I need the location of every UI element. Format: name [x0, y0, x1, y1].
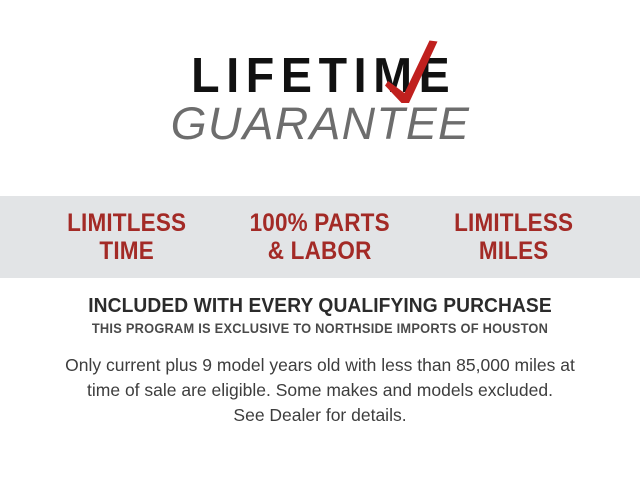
fineprint-line: time of sale are eligible. Some makes an… — [0, 378, 640, 403]
copy-block: INCLUDED WITH EVERY QUALIFYING PURCHASE … — [0, 294, 640, 428]
subline-text: THIS PROGRAM IS EXCLUSIVE TO NORTHSIDE I… — [16, 321, 624, 337]
logo-guarantee-text: GUARANTEE — [170, 101, 470, 147]
benefit-line-1: 100% PARTS — [233, 209, 407, 238]
benefit-column-limitless-miles: LIMITLESS MILES — [426, 209, 600, 266]
benefit-line-1: LIMITLESS — [426, 209, 600, 238]
benefit-line-2: TIME — [40, 237, 214, 266]
benefits-band: LIMITLESS TIME 100% PARTS & LABOR LIMITL… — [0, 196, 640, 278]
benefit-line-1: LIMITLESS — [40, 209, 214, 238]
headline-text: INCLUDED WITH EVERY QUALIFYING PURCHASE — [13, 294, 627, 318]
benefit-column-parts-labor: 100% PARTS & LABOR — [233, 209, 407, 266]
logo-lifetime-text: LIFETIME — [182, 52, 458, 100]
benefit-column-limitless-time: LIMITLESS TIME — [40, 209, 214, 266]
logo-block: LIFETIME GUARANTEE — [0, 52, 640, 147]
fineprint-block: Only current plus 9 model years old with… — [0, 353, 640, 428]
benefit-line-2: MILES — [426, 237, 600, 266]
fineprint-line: Only current plus 9 model years old with… — [0, 353, 640, 378]
fineprint-line: See Dealer for details. — [0, 403, 640, 428]
benefit-line-2: & LABOR — [233, 237, 407, 266]
logo-wordmark: LIFETIME GUARANTEE — [175, 52, 466, 147]
lifetime-guarantee-poster: LIFETIME GUARANTEE LIMITLESS TIME 100% P… — [0, 0, 640, 480]
